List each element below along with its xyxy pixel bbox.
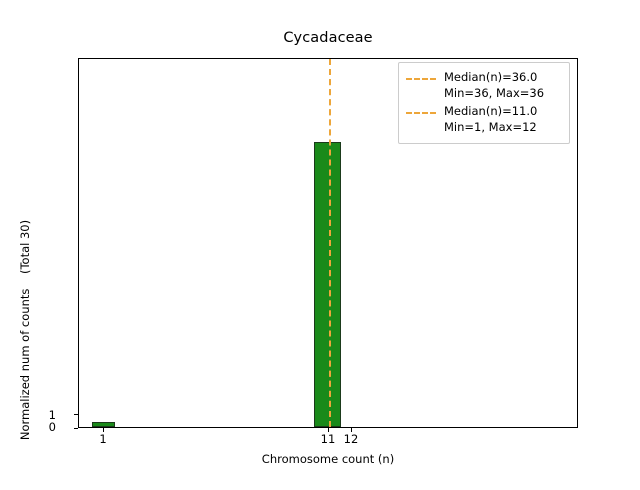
- x-tick-label-12: 12: [331, 432, 371, 446]
- x-tick-label-1: 1: [83, 432, 123, 446]
- dashed-line-icon: [406, 106, 436, 120]
- legend-item-1[interactable]: Median(n)=11.0 Min=1, Max=12: [406, 103, 562, 136]
- x-axis-label: Chromosome count (n): [78, 452, 578, 466]
- y-tick-label-0: 0: [16, 420, 56, 434]
- legend[interactable]: Median(n)=36.0 Min=36, Max=36 Median(n)=…: [398, 62, 570, 144]
- y-axis-label-wrap: Normalized num of counts (Total 30): [30, 60, 48, 430]
- legend-item-label: Median(n)=36.0 Min=36, Max=36: [444, 69, 544, 102]
- bar-n-1[interactable]: [92, 422, 115, 427]
- bar-n-11[interactable]: [314, 142, 341, 427]
- legend-item-0[interactable]: Median(n)=36.0 Min=36, Max=36: [406, 69, 562, 102]
- y-tick-mark-1: [74, 414, 78, 415]
- y-tick-mark-0: [74, 428, 78, 429]
- page-title: Cycadaceae: [78, 30, 578, 46]
- y-axis-label: Normalized num of counts (Total 30): [18, 170, 32, 490]
- figure-canvas: Cycadaceae Normalized num of counts (Tot…: [0, 0, 640, 480]
- dashed-line-icon: [406, 72, 436, 86]
- median-line-overlay-11: [329, 59, 331, 427]
- legend-item-label: Median(n)=11.0 Min=1, Max=12: [444, 103, 537, 136]
